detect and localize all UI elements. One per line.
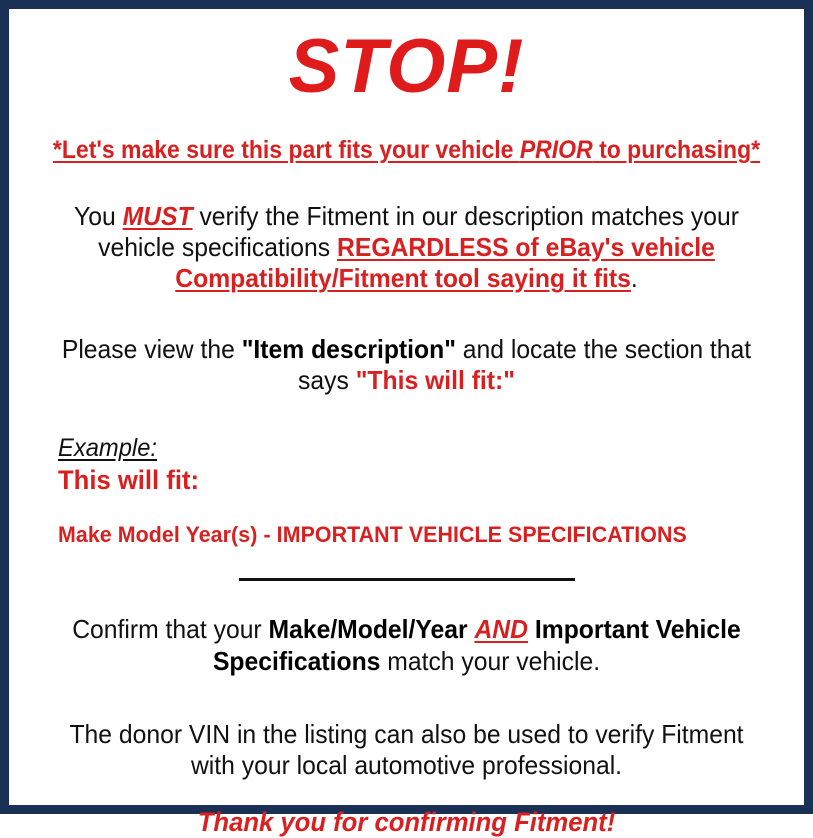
fitment-notice-frame: STOP! *Let's make sure this part fits yo… bbox=[0, 0, 813, 814]
p3-part-4: match your vehicle. bbox=[380, 646, 600, 676]
notice-content: STOP! *Let's make sure this part fits yo… bbox=[9, 9, 804, 805]
tagline-prefix: *Let's make sure this part fits your veh… bbox=[53, 136, 520, 164]
horizontal-divider bbox=[239, 578, 575, 581]
p3-emphasis-make-model-year: Make/Model/Year bbox=[269, 614, 468, 644]
p3-emphasis-and: AND bbox=[474, 614, 528, 644]
example-heading: This will fit: bbox=[58, 465, 758, 496]
closing-thank-you: Thank you for confirming Fitment! bbox=[37, 807, 775, 838]
paragraph-confirm: Confirm that your Make/Model/Year AND Im… bbox=[37, 614, 775, 676]
example-label: Example: bbox=[58, 434, 157, 463]
example-block: Example: This will fit: Make Model Year(… bbox=[18, 434, 795, 548]
p3-part-3 bbox=[528, 614, 535, 644]
p1-part-1: You bbox=[74, 201, 123, 231]
divider-wrap bbox=[18, 570, 795, 588]
tagline-emphasis-prior: PRIOR bbox=[520, 136, 593, 164]
p2-emphasis-this-will-fit: "This will fit:" bbox=[356, 365, 515, 395]
p3-part-1: Confirm that your bbox=[72, 614, 268, 644]
paragraph-donor-vin: The donor VIN in the listing can also be… bbox=[37, 719, 775, 781]
paragraph-item-description: Please view the "Item description" and l… bbox=[37, 334, 775, 396]
stop-headline: STOP! bbox=[18, 29, 795, 105]
p1-emphasis-must: MUST bbox=[123, 201, 193, 231]
fitment-tagline: *Let's make sure this part fits your veh… bbox=[49, 137, 764, 165]
p1-part-3: . bbox=[631, 263, 638, 293]
p2-emphasis-item-description: "Item description" bbox=[242, 334, 456, 364]
tagline-suffix: to purchasing* bbox=[593, 136, 760, 164]
paragraph-must-verify: You MUST verify the Fitment in our descr… bbox=[37, 201, 775, 295]
example-fitment-line: Make Model Year(s) - IMPORTANT VEHICLE S… bbox=[58, 522, 773, 548]
p2-part-1: Please view the bbox=[62, 334, 242, 364]
